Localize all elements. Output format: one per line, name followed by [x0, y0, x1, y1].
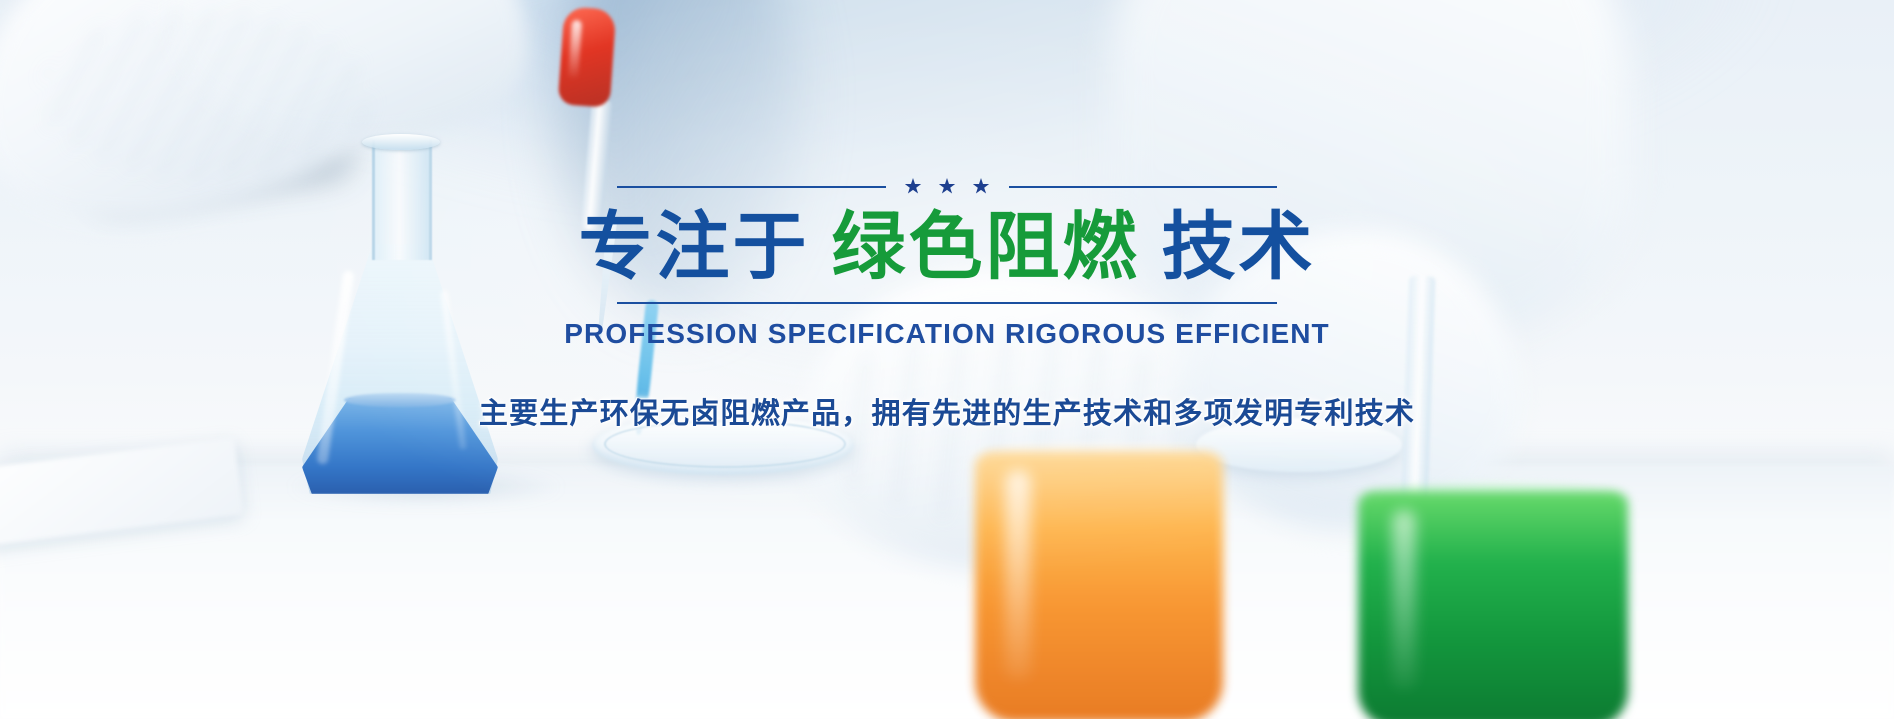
petri-dish-right	[1196, 418, 1402, 472]
petri-dish-rim	[604, 420, 846, 468]
flask-liquid-surface	[344, 393, 456, 407]
erlenmeyer-flask	[300, 140, 548, 500]
flask-lip	[362, 134, 440, 150]
green-beaker-highlight	[1392, 510, 1416, 690]
flask-neck	[372, 140, 432, 260]
hero-banner: 专注于绿色阻燃技术 PROFESSION SPECIFICATION RIGOR…	[0, 0, 1894, 719]
background-scene	[0, 0, 1894, 719]
pipette-red-bulb	[558, 6, 617, 107]
orange-beaker-highlight	[1005, 470, 1031, 680]
